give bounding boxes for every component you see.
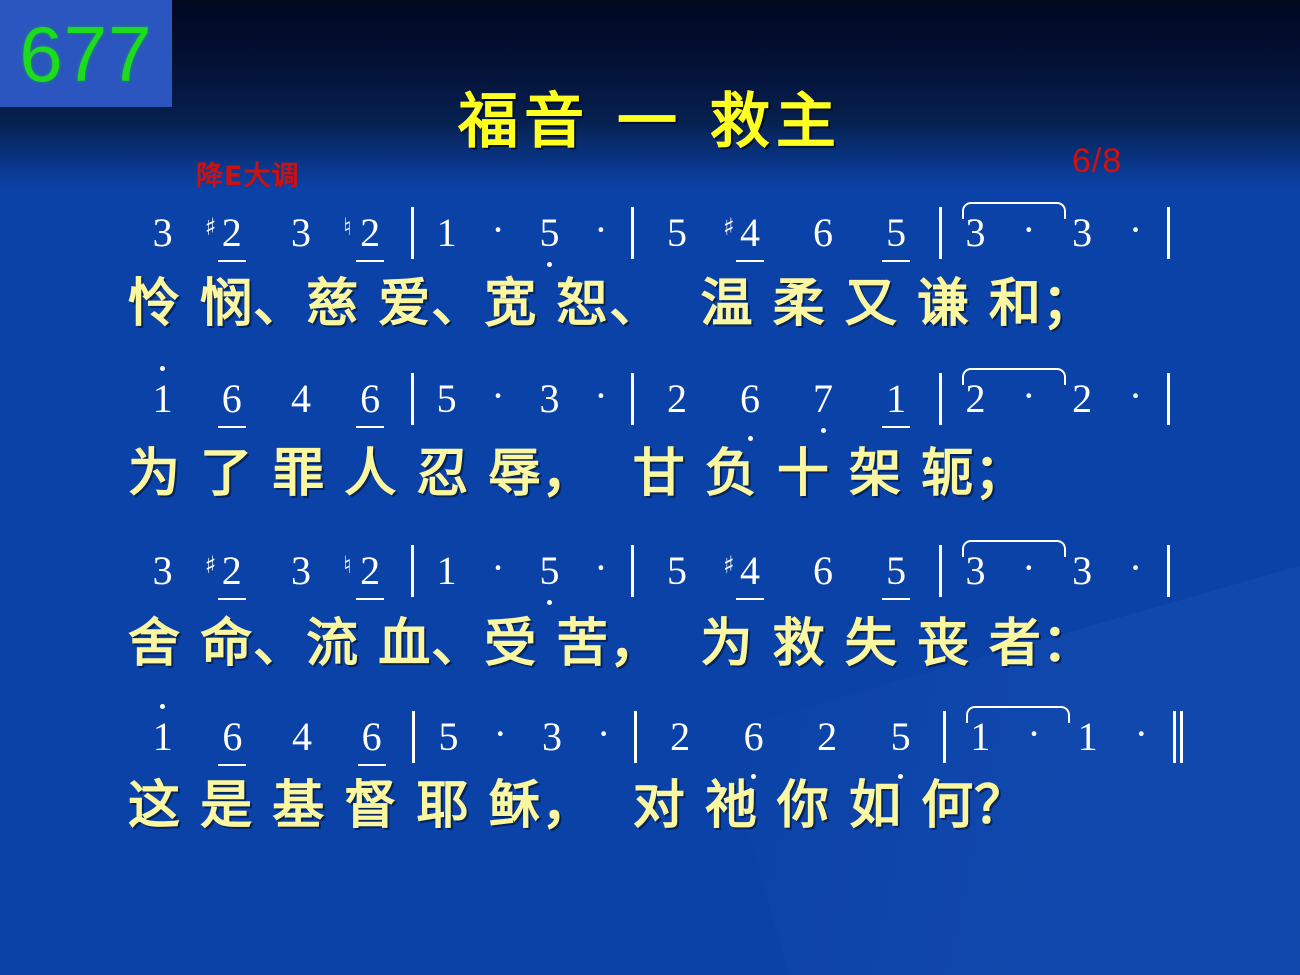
note: 6 <box>220 717 244 757</box>
note: 1 <box>1076 717 1100 757</box>
note-digit: 2 <box>817 717 837 757</box>
measure: 1·1· <box>952 704 1167 770</box>
note: 2 <box>668 717 692 757</box>
note: 5 <box>435 379 459 419</box>
note: 5 <box>665 551 689 591</box>
measure: 2·2· <box>948 366 1161 432</box>
hymn-number-badge: 677 <box>0 0 172 107</box>
note: 2♯ <box>220 213 244 253</box>
duration-dot: · <box>488 548 507 588</box>
barline <box>939 207 942 259</box>
note-digit: 1 <box>437 551 457 591</box>
note: 6 <box>811 551 835 591</box>
note-digit: 6 <box>740 379 760 419</box>
note-digit: 3 <box>965 551 985 591</box>
note-digit: 3 <box>965 213 985 253</box>
duration-dot: · <box>1132 714 1151 754</box>
note-digit: 5 <box>891 717 911 757</box>
note: 5 <box>889 717 913 757</box>
hymn-number: 677 <box>19 15 152 93</box>
measure: 2625 <box>643 704 937 770</box>
note: 3 <box>151 551 175 591</box>
note-digit: 3 <box>153 551 173 591</box>
duration-dot: · <box>591 548 610 588</box>
note-digit: 6 <box>360 379 380 419</box>
notation-stave: 32♯32♮1·5·54♯653·3· <box>128 538 1176 604</box>
lyric-line: 为 了 罪 人 忍 辱， 甘 负 十 架 轭； <box>128 448 1176 500</box>
note: 2♯ <box>220 551 244 591</box>
note: 6 <box>811 213 835 253</box>
measure: 5·3· <box>421 704 628 770</box>
note-digit: 4 <box>292 717 312 757</box>
note-digit: 5 <box>886 551 906 591</box>
notation-stave: 16465·3·26251·1· <box>128 704 1176 770</box>
barline <box>631 545 634 597</box>
note-digit: 5 <box>540 213 560 253</box>
sharp-icon: ♯ <box>723 215 735 239</box>
measure: 1646 <box>128 704 406 770</box>
lyric-line: 这 是 基 督 耶 稣， 对 祂 你 如 何？ <box>128 780 1176 832</box>
duration-dot: · <box>591 376 610 416</box>
barline <box>939 373 942 425</box>
note-digit: 5 <box>540 551 560 591</box>
duration-dot: · <box>594 714 613 754</box>
lyric-line: 舍 命、流 血、受 苦， 为 救 失 丧 者： <box>128 618 1176 670</box>
duration-dot: · <box>488 376 507 416</box>
notation-stave: 16465·3·26712·2· <box>128 366 1176 432</box>
note: 3 <box>289 551 313 591</box>
note-digit: 3 <box>153 213 173 253</box>
note-digit: 2♮ <box>360 213 380 253</box>
measure: 54♯65 <box>640 200 932 266</box>
note: 6 <box>360 717 384 757</box>
note-digit: 2 <box>965 379 985 419</box>
note-digit: 1 <box>1078 717 1098 757</box>
barline <box>411 545 414 597</box>
note-digit: 5 <box>667 213 687 253</box>
note: 6 <box>738 379 762 419</box>
note: 3 <box>538 379 562 419</box>
natural-icon: ♮ <box>343 553 352 577</box>
note: 1 <box>435 551 459 591</box>
note: 5 <box>437 717 461 757</box>
duration-dot: · <box>491 714 510 754</box>
note: 4♯ <box>738 213 762 253</box>
note-digit: 1 <box>886 379 906 419</box>
measure: 1646 <box>128 366 405 432</box>
note-digit: 3 <box>542 717 562 757</box>
duration-dot: · <box>1126 548 1145 588</box>
barline <box>634 711 637 763</box>
note-digit: 1 <box>153 717 173 757</box>
measure: 3·3· <box>948 538 1161 604</box>
barline <box>1167 545 1170 597</box>
duration-dot: · <box>1126 376 1145 416</box>
measure: 1·5· <box>420 538 626 604</box>
note-digit: 5 <box>439 717 459 757</box>
note: 5 <box>538 213 562 253</box>
note-digit: 2♯ <box>222 213 242 253</box>
note-digit: 4♯ <box>740 213 760 253</box>
note-digit: 6 <box>362 717 382 757</box>
note: 7 <box>811 379 835 419</box>
barline <box>939 545 942 597</box>
measure: 3·3· <box>948 200 1161 266</box>
measure: 1·5· <box>420 200 626 266</box>
note-digit: 6 <box>813 213 833 253</box>
note: 1 <box>151 717 175 757</box>
barline <box>1167 373 1170 425</box>
time-signature-label: 6/8 <box>1072 142 1122 181</box>
measure: 54♯65 <box>640 538 932 604</box>
note: 3 <box>289 213 313 253</box>
note: 6 <box>220 379 244 419</box>
note-digit: 2♮ <box>360 551 380 591</box>
note-digit: 4 <box>291 379 311 419</box>
duration-dot: · <box>591 210 610 250</box>
barline <box>411 373 414 425</box>
barline <box>943 711 946 763</box>
note: 1 <box>151 379 175 419</box>
note-digit: 4♯ <box>740 551 760 591</box>
note: 1 <box>884 379 908 419</box>
note: 3 <box>540 717 564 757</box>
note-digit: 3 <box>540 379 560 419</box>
natural-icon: ♮ <box>343 215 352 239</box>
note-digit: 5 <box>667 551 687 591</box>
note-digit: 3 <box>291 213 311 253</box>
lyric-line: 怜 悯、慈 爱、宽 恕、 温 柔 又 谦 和； <box>128 278 1176 330</box>
note-digit: 2 <box>670 717 690 757</box>
barline <box>631 373 634 425</box>
note: 5 <box>884 551 908 591</box>
barline <box>411 207 414 259</box>
duration-dot: · <box>1126 210 1145 250</box>
barline <box>412 711 415 763</box>
note-digit: 6 <box>813 551 833 591</box>
note: 5 <box>884 213 908 253</box>
note: 4 <box>290 717 314 757</box>
note: 3 <box>151 213 175 253</box>
duration-dot: · <box>1019 548 1038 588</box>
note: 6 <box>742 717 766 757</box>
hymn-slide: 677 福音 一 救主 降E大调 6/8 32♯32♮1·5·54♯653·3·… <box>0 0 1300 975</box>
duration-dot: · <box>1019 210 1038 250</box>
measure: 2671 <box>640 366 932 432</box>
barline <box>631 207 634 259</box>
note-digit: 6 <box>222 379 242 419</box>
note: 6 <box>358 379 382 419</box>
measure: 5·3· <box>420 366 626 432</box>
note: 3 <box>963 551 987 591</box>
note: 5 <box>538 551 562 591</box>
note-digit: 3 <box>1072 551 1092 591</box>
measure: 32♯32♮ <box>128 200 405 266</box>
duration-dot: · <box>1019 376 1038 416</box>
notation-stave: 32♯32♮1·5·54♯653·3· <box>128 200 1176 266</box>
note: 1 <box>435 213 459 253</box>
note-digit: 5 <box>886 213 906 253</box>
barline <box>1167 207 1170 259</box>
note: 1 <box>968 717 992 757</box>
note: 4 <box>289 379 313 419</box>
note: 2♮ <box>358 213 382 253</box>
sharp-icon: ♯ <box>723 553 735 577</box>
note-digit: 3 <box>1072 213 1092 253</box>
note: 3 <box>963 213 987 253</box>
note-digit: 1 <box>153 379 173 419</box>
sharp-icon: ♯ <box>205 215 217 239</box>
note-digit: 3 <box>291 551 311 591</box>
note-digit: 5 <box>437 379 457 419</box>
sharp-icon: ♯ <box>205 553 217 577</box>
note: 3 <box>1070 213 1094 253</box>
duration-dot: · <box>488 210 507 250</box>
note-digit: 2 <box>667 379 687 419</box>
note-digit: 6 <box>744 717 764 757</box>
note: 4♯ <box>738 551 762 591</box>
note-digit: 2 <box>1072 379 1092 419</box>
note-digit: 1 <box>437 213 457 253</box>
duration-dot: · <box>1024 714 1043 754</box>
note: 3 <box>1070 551 1094 591</box>
note-digit: 7 <box>813 379 833 419</box>
note: 2 <box>815 717 839 757</box>
note-digit: 2♯ <box>222 551 242 591</box>
key-signature-label: 降E大调 <box>196 154 299 193</box>
note-digit: 1 <box>970 717 990 757</box>
note: 2♮ <box>358 551 382 591</box>
note-digit: 6 <box>222 717 242 757</box>
note: 2 <box>665 379 689 419</box>
note: 5 <box>665 213 689 253</box>
measure: 32♯32♮ <box>128 538 405 604</box>
note: 2 <box>963 379 987 419</box>
note: 2 <box>1070 379 1094 419</box>
final-barline <box>1173 711 1176 763</box>
